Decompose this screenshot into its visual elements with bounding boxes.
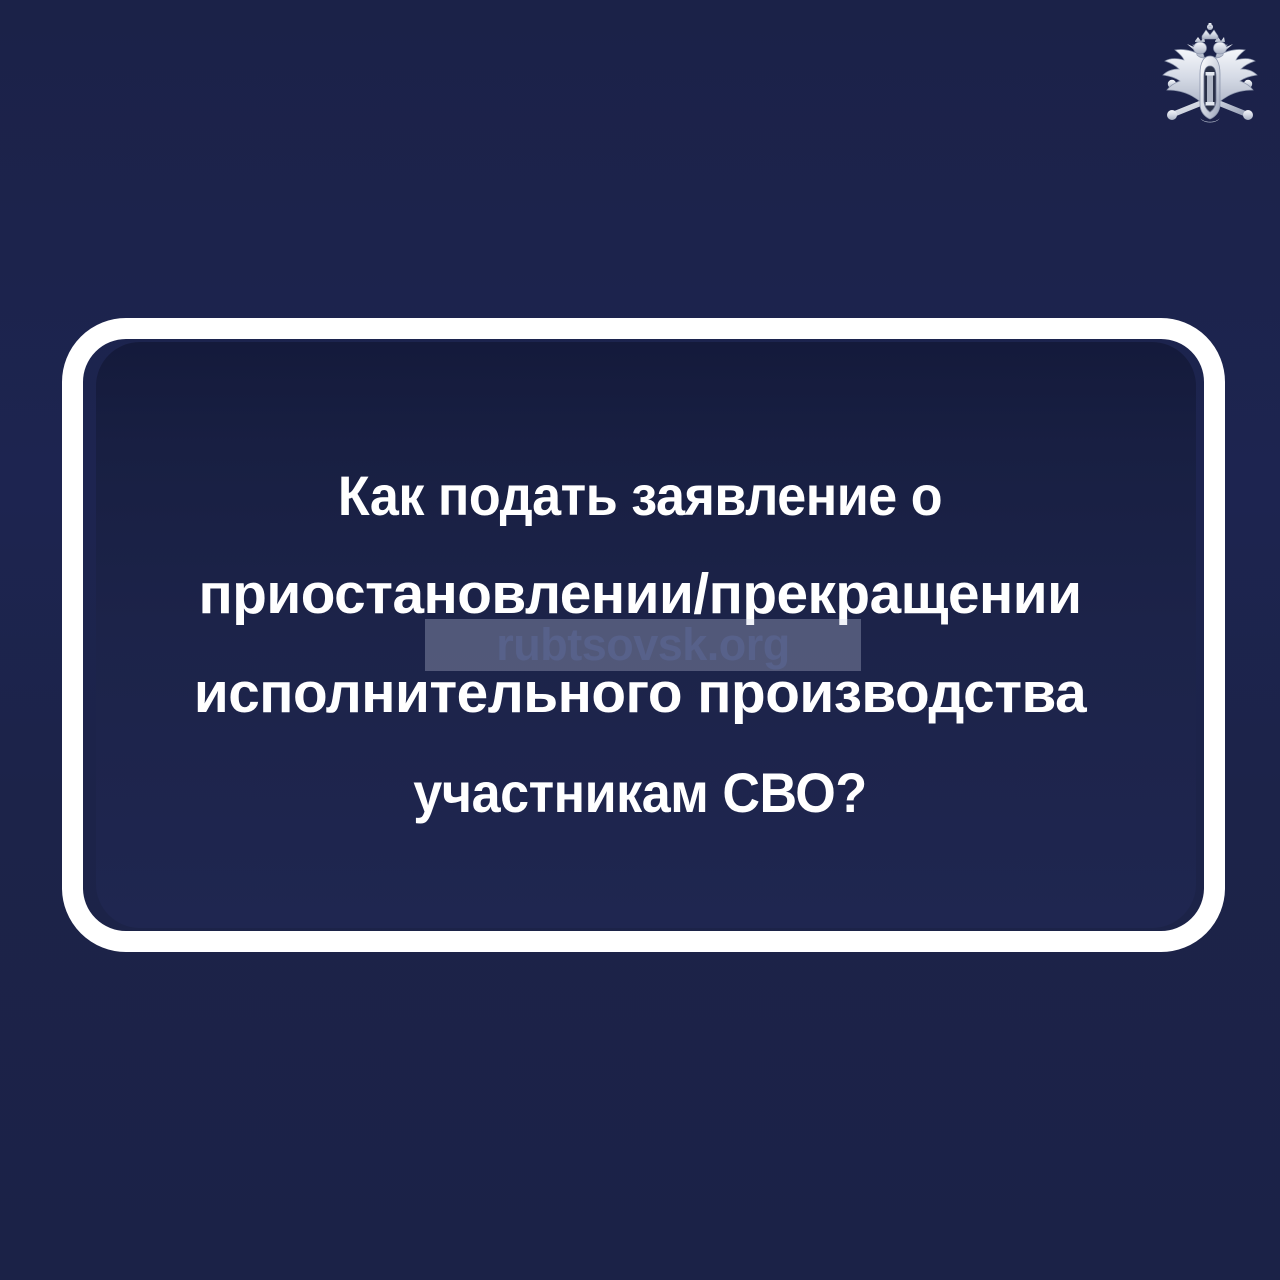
double-headed-eagle-emblem — [1158, 22, 1262, 128]
headline-line-1: Как подать заявление о — [45, 446, 1235, 545]
headline-line-4: участникам СВО? — [45, 743, 1235, 842]
watermark: rubtsovsk.org — [425, 619, 861, 671]
info-card: Как подать заявление о приостановлении/п… — [0, 0, 1280, 1280]
watermark-text: rubtsovsk.org — [496, 619, 790, 671]
